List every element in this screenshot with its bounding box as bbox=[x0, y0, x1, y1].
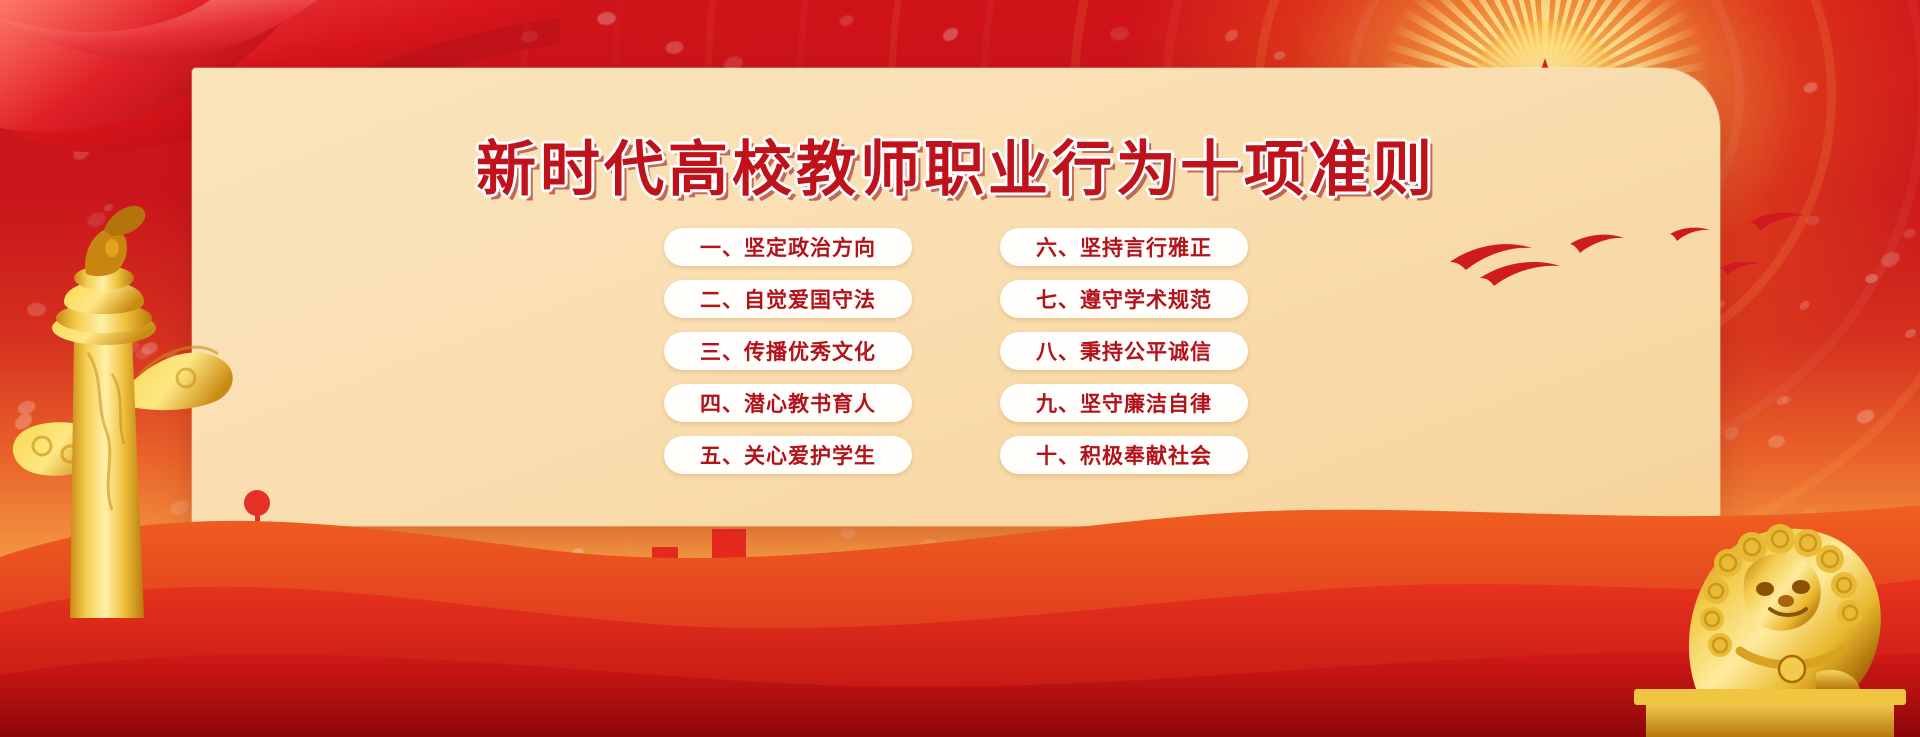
list-item[interactable]: 三、传播优秀文化 bbox=[664, 332, 912, 370]
left-column: 一、坚定政治方向 二、自觉爱国守法 三、传播优秀文化 四、潜心教书育人 五、关心… bbox=[664, 228, 912, 474]
list-item[interactable]: 六、坚持言行雅正 bbox=[1000, 228, 1248, 266]
list-item[interactable]: 一、坚定政治方向 bbox=[664, 228, 912, 266]
guidelines-list: 一、坚定政治方向 二、自觉爱国守法 三、传播优秀文化 四、潜心教书育人 五、关心… bbox=[192, 228, 1720, 498]
page-title: 新时代高校教师职业行为十项准则 bbox=[192, 140, 1720, 200]
list-item[interactable]: 八、秉持公平诚信 bbox=[1000, 332, 1248, 370]
right-column: 六、坚持言行雅正 七、遵守学术规范 八、秉持公平诚信 九、坚守廉洁自律 十、积极… bbox=[1000, 228, 1248, 474]
list-item[interactable]: 九、坚守廉洁自律 bbox=[1000, 384, 1248, 422]
list-item[interactable]: 二、自觉爱国守法 bbox=[664, 280, 912, 318]
list-item[interactable]: 五、关心爱护学生 bbox=[664, 436, 912, 474]
list-item[interactable]: 四、潜心教书育人 bbox=[664, 384, 912, 422]
list-item[interactable]: 七、遵守学术规范 bbox=[1000, 280, 1248, 318]
list-item[interactable]: 十、积极奉献社会 bbox=[1000, 436, 1248, 474]
banner-root: 新时代高校教师职业行为十项准则 一、坚定政治方向 二、自觉爱国守法 三、传播优秀… bbox=[0, 0, 1920, 737]
